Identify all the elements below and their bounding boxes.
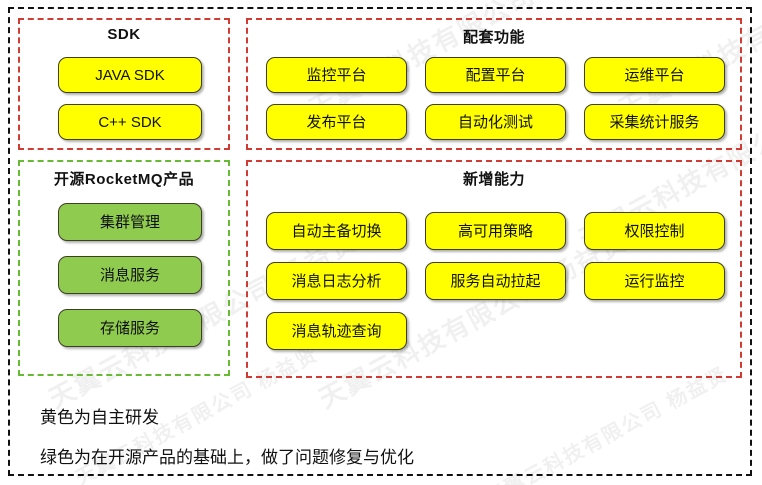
node-java-sdk[interactable]: JAVA SDK	[58, 57, 202, 93]
node-permission-control[interactable]: 权限控制	[584, 212, 725, 250]
node-label: JAVA SDK	[95, 68, 164, 83]
node-high-availability-strategy[interactable]: 高可用策略	[425, 212, 566, 250]
node-label: C++ SDK	[98, 115, 161, 130]
node-cluster-management[interactable]: 集群管理	[58, 203, 202, 241]
node-storage-service[interactable]: 存储服务	[58, 309, 202, 347]
node-label: 消息日志分析	[291, 274, 381, 289]
node-label: 消息轨迹查询	[291, 324, 381, 339]
node-label: 监控平台	[306, 68, 366, 83]
diagram-canvas: 天翼云科技有限公司 杨益贤 天翼云科技有限公司 杨益贤 天翼云科技有限公司 杨益…	[0, 0, 762, 485]
node-cpp-sdk[interactable]: C++ SDK	[58, 104, 202, 140]
node-message-trace-query[interactable]: 消息轨迹查询	[266, 312, 407, 350]
node-message-service[interactable]: 消息服务	[58, 256, 202, 294]
node-label: 自动化测试	[458, 115, 533, 130]
node-monitoring-platform[interactable]: 监控平台	[266, 57, 407, 93]
node-label: 采集统计服务	[609, 115, 699, 130]
node-label: 服务自动拉起	[450, 274, 540, 289]
node-message-log-analysis[interactable]: 消息日志分析	[266, 262, 407, 300]
node-label: 存储服务	[100, 321, 160, 336]
node-label: 集群管理	[100, 215, 160, 230]
group-title-new-capabilities: 新增能力	[248, 168, 740, 189]
node-label: 运维平台	[624, 68, 684, 83]
node-label: 消息服务	[100, 268, 160, 283]
legend-green: 绿色为在开源产品的基础上，做了问题修复与优化	[40, 443, 414, 468]
node-label: 权限控制	[624, 224, 684, 239]
node-release-platform[interactable]: 发布平台	[266, 104, 407, 140]
node-label: 高可用策略	[458, 224, 533, 239]
node-service-auto-restart[interactable]: 服务自动拉起	[425, 262, 566, 300]
group-title-sdk: SDK	[20, 26, 228, 43]
group-title-open-source-rocketmq: 开源RocketMQ产品	[20, 168, 228, 189]
node-label: 发布平台	[306, 115, 366, 130]
node-label: 运行监控	[624, 274, 684, 289]
group-title-supporting-functions: 配套功能	[248, 26, 740, 47]
node-collection-statistics-service[interactable]: 采集统计服务	[584, 104, 725, 140]
node-operations-platform[interactable]: 运维平台	[584, 57, 725, 93]
node-runtime-monitoring[interactable]: 运行监控	[584, 262, 725, 300]
node-label: 配置平台	[465, 68, 525, 83]
node-automated-testing[interactable]: 自动化测试	[425, 104, 566, 140]
legend-yellow: 黄色为自主研发	[40, 403, 159, 428]
node-label: 自动主备切换	[291, 224, 381, 239]
node-auto-master-standby-switch[interactable]: 自动主备切换	[266, 212, 407, 250]
node-configuration-platform[interactable]: 配置平台	[425, 57, 566, 93]
